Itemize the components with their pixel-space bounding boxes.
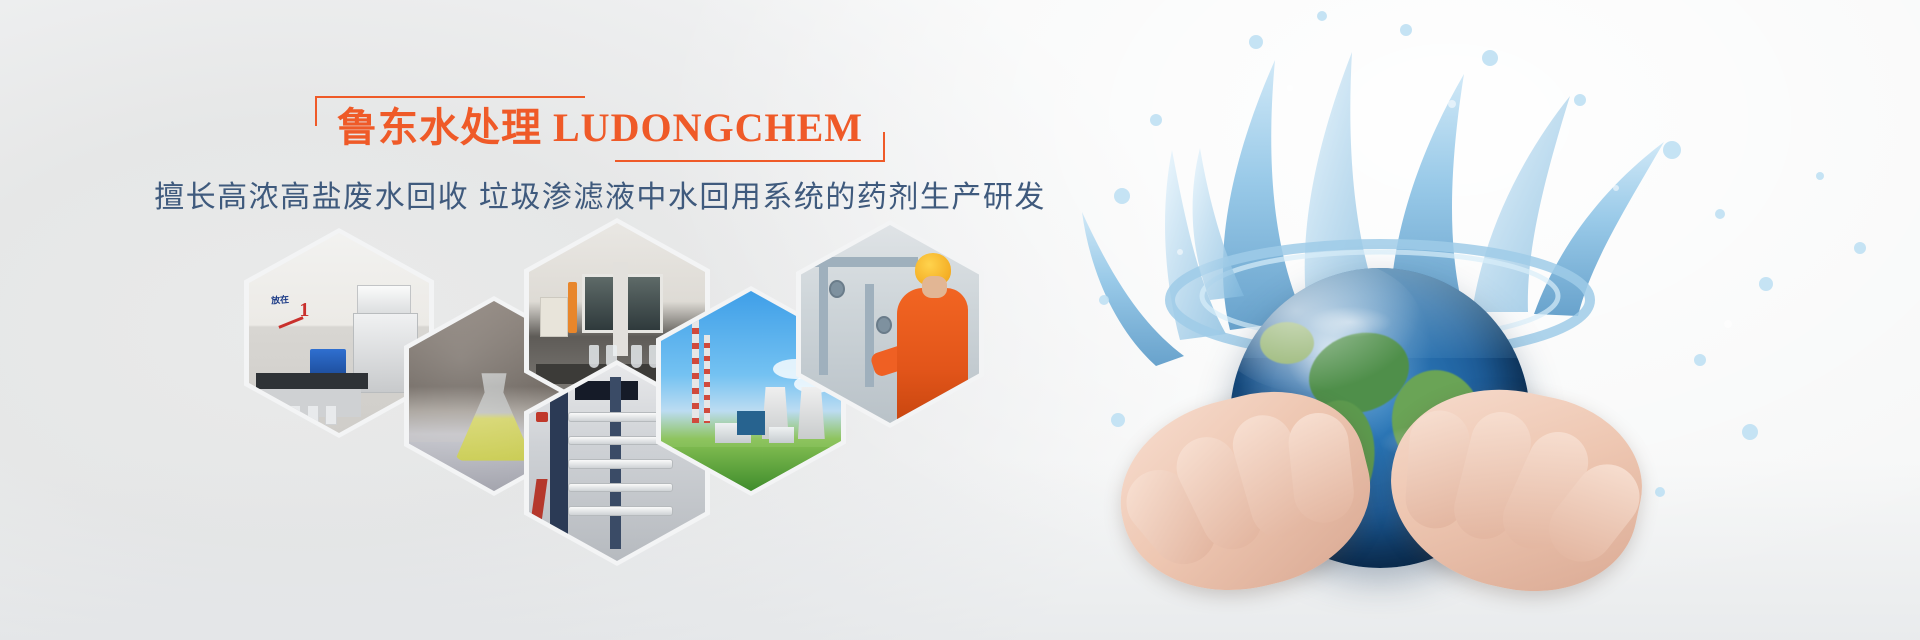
banner-subtitle: 擅长高浓高盐废水回收 垃圾渗滤液中水回用系统的药剂生产研发 bbox=[0, 176, 1200, 220]
hex-image-worker bbox=[801, 225, 979, 423]
wall-number-text: 1 bbox=[299, 299, 309, 322]
hero-banner: 鲁东水处理 LUDONGCHEM 擅长高浓高盐废水回收 垃圾渗滤液中水回用系统的… bbox=[0, 0, 1920, 640]
wall-slogan-text: 放在 bbox=[270, 292, 289, 307]
bracket-bottom-right-icon bbox=[615, 132, 885, 162]
banner-text-block: 鲁东水处理 LUDONGCHEM 擅长高浓高盐废水回收 垃圾渗滤液中水回用系统的… bbox=[0, 96, 1200, 220]
brand-title-wrapper: 鲁东水处理 LUDONGCHEM bbox=[315, 96, 885, 162]
bracket-top-left-icon bbox=[315, 96, 585, 126]
hex-image-lab-workshop: 放在 1 bbox=[249, 233, 429, 433]
